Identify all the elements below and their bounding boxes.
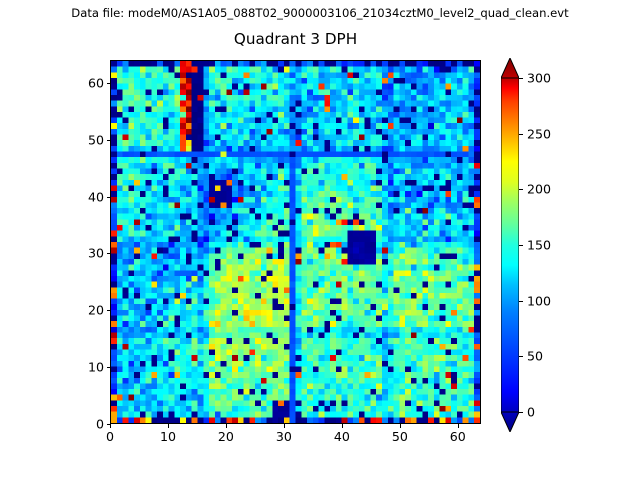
colorbar-tick-mark — [519, 301, 523, 302]
y-tick-label: 30 — [88, 246, 104, 261]
x-tick-mark — [110, 424, 111, 428]
x-tick-label: 60 — [450, 429, 466, 444]
y-tick-label: 10 — [88, 360, 104, 375]
colorbar-gradient — [501, 78, 519, 412]
x-tick-mark — [400, 424, 401, 428]
x-tick-label: 10 — [160, 429, 176, 444]
colorbar-tick-mark — [519, 412, 523, 413]
x-tick-label: 30 — [276, 429, 292, 444]
x-tick-mark — [342, 424, 343, 428]
colorbar-extend-high — [501, 58, 519, 78]
y-tick-mark — [107, 367, 111, 368]
colorbar-ticks: 050100150200250300 — [527, 0, 587, 480]
colorbar-tick-mark — [519, 189, 523, 190]
y-tick-mark — [107, 140, 111, 141]
y-tick-label: 50 — [88, 132, 104, 147]
x-tick-mark — [168, 424, 169, 428]
page-title: Quadrant 3 DPH — [110, 30, 481, 48]
heatmap-image[interactable] — [111, 61, 480, 423]
colorbar-tick-mark — [519, 134, 523, 135]
colorbar-tick-mark — [519, 78, 523, 79]
y-tick-label: 0 — [96, 417, 104, 432]
colorbar[interactable] — [501, 58, 519, 432]
colorbar-tick-label: 200 — [527, 182, 551, 197]
x-tick-label: 20 — [218, 429, 234, 444]
colorbar-extend-low — [501, 412, 519, 432]
colorbar-tick-mark — [519, 356, 523, 357]
x-tick-mark — [458, 424, 459, 428]
y-tick-mark — [107, 253, 111, 254]
x-tick-label: 40 — [334, 429, 350, 444]
x-tick-label: 50 — [392, 429, 408, 444]
y-axis-ticks: 0102030405060 — [66, 0, 104, 480]
y-tick-mark — [107, 197, 111, 198]
y-tick-mark — [107, 310, 111, 311]
colorbar-tick-label: 150 — [527, 238, 551, 253]
x-tick-label: 0 — [106, 429, 114, 444]
colorbar-tick-label: 100 — [527, 293, 551, 308]
y-tick-label: 60 — [88, 75, 104, 90]
colorbar-tick-label: 50 — [527, 349, 543, 364]
y-tick-mark — [107, 424, 111, 425]
colorbar-tick-label: 0 — [527, 405, 535, 420]
colorbar-tick-label: 300 — [527, 71, 551, 86]
y-tick-label: 40 — [88, 189, 104, 204]
heatmap-plot-area[interactable] — [110, 60, 481, 424]
colorbar-tick-mark — [519, 245, 523, 246]
x-tick-mark — [284, 424, 285, 428]
x-tick-mark — [226, 424, 227, 428]
colorbar-tick-label: 250 — [527, 126, 551, 141]
y-tick-mark — [107, 83, 111, 84]
y-tick-label: 20 — [88, 303, 104, 318]
